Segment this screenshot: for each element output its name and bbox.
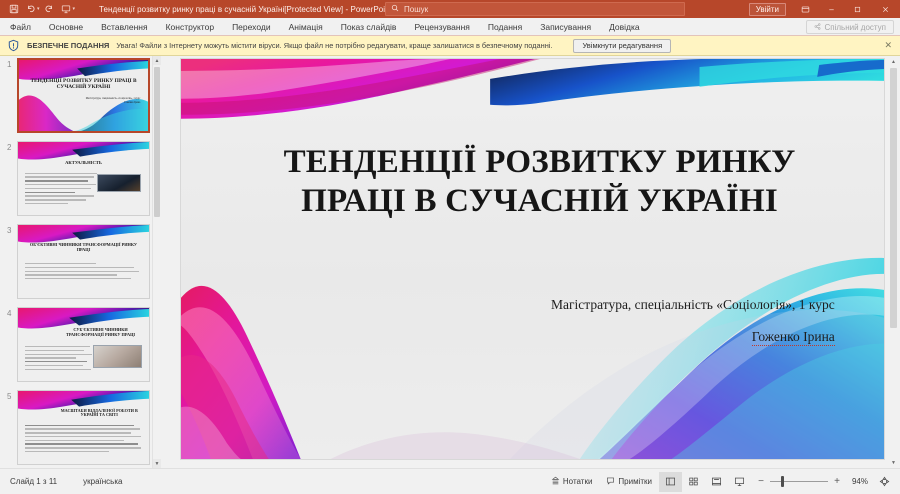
comments-button[interactable]: Примітки — [599, 472, 659, 492]
ribbon-tab-bar: Файл Основне Вставлення Конструктор Пере… — [0, 18, 900, 36]
slide-counter[interactable]: Слайд 1 з 11 — [10, 477, 57, 486]
thumbnail-title: СУБ'ЄКТИВНІ ЧИННИКИ ТРАНСФОРМАЦІЇ РИНКУ … — [60, 328, 141, 338]
language-indicator[interactable]: українська — [83, 477, 122, 486]
customize-quick-access-icon[interactable]: ▾ — [73, 6, 76, 12]
tab-slideshow[interactable]: Показ слайдів — [332, 18, 406, 36]
reading-view-icon[interactable] — [705, 472, 728, 492]
share-button[interactable]: Спільний доступ — [806, 20, 894, 34]
protected-view-heading: БЕЗПЕЧНЕ ПОДАННЯ — [27, 41, 109, 50]
scrollbar-thumb[interactable] — [890, 68, 897, 328]
thumbnail-item-5[interactable]: 5 МАСШТАБИ ВІДДАЛЕНОЇ РОБОТИ В УКРАЇНІ Т… — [0, 388, 152, 468]
thumbnail-title: МАСШТАБИ ВІДДАЛЕНОЇ РОБОТИ В УКРАЇНІ ТА … — [57, 409, 141, 418]
thumbnail-number: 1 — [7, 60, 11, 69]
slide-decoration — [181, 59, 884, 459]
thumbnail-body — [25, 425, 143, 455]
comment-icon — [606, 476, 615, 487]
enable-editing-button[interactable]: Увімкнути редагування — [573, 39, 671, 53]
quick-access-toolbar: ▾ ▾ — [0, 2, 75, 17]
window-controls: Увійти — [749, 0, 900, 18]
zoom-level[interactable]: 94% — [846, 477, 868, 486]
scroll-up-icon[interactable]: ▲ — [889, 57, 898, 66]
notes-button[interactable]: Нотатки — [544, 472, 600, 492]
minimize-button[interactable] — [818, 0, 844, 18]
thumbnail-image — [97, 174, 142, 192]
status-bar: Слайд 1 з 11 українська Нотатки Примітк — [0, 468, 900, 494]
thumbnail-number: 3 — [7, 226, 11, 235]
thumbnail-title: АКТУАЛЬНІСТЬ — [26, 160, 141, 165]
thumbnail-title: ТЕНДЕНЦІЇ РОЗВИТКУ РИНКУ ПРАЦІ В СУЧАСНІ… — [27, 78, 141, 90]
thumbnail-2[interactable]: АКТУАЛЬНІСТЬ — [17, 141, 150, 216]
thumbnail-image — [93, 345, 143, 368]
thumbnail-number: 4 — [7, 309, 11, 318]
zoom-slider-handle[interactable] — [781, 476, 784, 487]
thumbnail-item-2[interactable]: 2 АКТУАЛЬНІСТЬ — [0, 139, 152, 221]
tab-help[interactable]: Довідка — [600, 18, 649, 36]
thumbnail-3[interactable]: ОБ'ЄКТИВНІ ЧИННИКИ ТРАНСФОРМАЦІЇ РИНКУ П… — [17, 224, 150, 299]
thumbnail-1[interactable]: ТЕНДЕНЦІЇ РОЗВИТКУ РИНКУ ПРАЦІ В СУЧАСНІ… — [17, 58, 150, 133]
slide-sorter-view-icon[interactable] — [682, 472, 705, 492]
close-button[interactable] — [870, 0, 900, 18]
start-presentation-icon[interactable] — [59, 2, 74, 17]
slide-thumbnail-pane[interactable]: 1 — [0, 56, 160, 468]
undo-dropdown-icon[interactable]: ▾ — [37, 6, 40, 12]
thumbnail-body — [25, 173, 97, 207]
search-placeholder: Пошук — [404, 5, 428, 14]
zoom-in-button[interactable]: + — [833, 476, 841, 487]
thumbnail-5[interactable]: МАСШТАБИ ВІДДАЛЕНОЇ РОБОТИ В УКРАЇНІ ТА … — [17, 390, 150, 465]
thumbnail-body — [25, 263, 140, 282]
comments-label: Примітки — [618, 477, 652, 486]
slide-scrollbar[interactable]: ▲ ▼ — [889, 56, 898, 468]
undo-icon[interactable] — [23, 2, 38, 17]
notes-icon — [551, 476, 560, 487]
scroll-down-icon[interactable]: ▼ — [153, 459, 161, 468]
thumbnail-item-1[interactable]: 1 — [0, 56, 152, 138]
tab-review[interactable]: Рецензування — [405, 18, 478, 36]
ribbon-display-options-icon[interactable] — [792, 0, 818, 18]
tab-animations[interactable]: Анімація — [280, 18, 332, 36]
window-title: Тенденції розвитку ринку праці в сучасні… — [99, 5, 392, 14]
zoom-control[interactable]: − + 94% — [751, 476, 874, 487]
slideshow-view-icon[interactable] — [728, 472, 751, 492]
tab-recording[interactable]: Записування — [531, 18, 600, 36]
current-slide[interactable]: ТЕНДЕНЦІЇ РОЗВИТКУ РИНКУ ПРАЦІ В СУЧАСНІ… — [180, 58, 885, 460]
thumbnail-number: 5 — [7, 392, 11, 401]
notes-label: Нотатки — [563, 477, 593, 486]
scrollbar-thumb[interactable] — [154, 67, 160, 217]
thumbnail-subtitle-1: Магістратура, спеціальність «Соціологія»… — [86, 97, 141, 100]
thumbnail-item-4[interactable]: 4 СУБ'ЄКТИВНІ ЧИННИКИ ТРАНСФОРМАЦІЇ РИНК… — [0, 305, 152, 387]
fit-to-window-icon[interactable] — [874, 472, 894, 492]
slide-title[interactable]: ТЕНДЕНЦІЇ РОЗВИТКУ РИНКУ ПРАЦІ В СУЧАСНІ… — [237, 143, 842, 221]
slide-author: Гоженко Ірина — [752, 329, 835, 346]
tab-design[interactable]: Конструктор — [157, 18, 223, 36]
thumbnail-item-3[interactable]: 3 ОБ'ЄКТИВНІ ЧИННИКИ ТРАНСФОРМАЦІЇ РИНКУ… — [0, 222, 152, 304]
save-icon[interactable] — [6, 2, 21, 17]
tab-home[interactable]: Основне — [40, 18, 92, 36]
close-icon[interactable]: ✕ — [884, 40, 892, 51]
workspace: 1 — [0, 56, 900, 468]
share-label: Спільний доступ — [824, 23, 886, 32]
zoom-out-button[interactable]: − — [757, 476, 765, 487]
protected-view-bar: БЕЗПЕЧНЕ ПОДАННЯ Увага! Файли з Інтернет… — [0, 36, 900, 56]
slide-stage: ТЕНДЕНЦІЇ РОЗВИТКУ РИНКУ ПРАЦІ В СУЧАСНІ… — [161, 56, 900, 468]
zoom-slider[interactable] — [770, 481, 828, 482]
tab-file[interactable]: Файл — [0, 18, 40, 36]
scroll-down-icon[interactable]: ▼ — [889, 458, 898, 467]
slide-subtitle-line1[interactable]: Магістратура, спеціальність «Соціологія»… — [551, 297, 835, 313]
sign-in-button[interactable]: Увійти — [749, 3, 786, 16]
scroll-up-icon[interactable]: ▲ — [153, 56, 161, 65]
thumbnail-body — [25, 346, 93, 372]
shield-icon — [7, 39, 20, 52]
thumbnail-scrollbar[interactable]: ▲ ▼ — [152, 56, 160, 468]
thumbnail-title: ОБ'ЄКТИВНІ ЧИННИКИ ТРАНСФОРМАЦІЇ РИНКУ П… — [26, 243, 141, 253]
thumbnail-number: 2 — [7, 143, 11, 152]
restore-button[interactable] — [844, 0, 870, 18]
thumbnail-4[interactable]: СУБ'ЄКТИВНІ ЧИННИКИ ТРАНСФОРМАЦІЇ РИНКУ … — [17, 307, 150, 382]
tab-transitions[interactable]: Переходи — [223, 18, 280, 36]
redo-icon[interactable] — [42, 2, 57, 17]
tab-view[interactable]: Подання — [479, 18, 531, 36]
protected-view-message: Увага! Файли з Інтернету можуть містити … — [116, 41, 552, 50]
title-bar: ▾ ▾ Тенденції розвитку ринку праці в суч… — [0, 0, 900, 18]
share-icon — [814, 23, 821, 32]
normal-view-icon[interactable] — [659, 472, 682, 492]
search-input[interactable]: Пошук — [385, 2, 685, 16]
search-icon — [391, 4, 399, 14]
thumbnail-subtitle-2: Гоженко Ірина — [124, 101, 140, 104]
powerpoint-window: ▾ ▾ Тенденції розвитку ринку праці в суч… — [0, 0, 900, 494]
tab-insert[interactable]: Вставлення — [92, 18, 156, 36]
slide-subtitle-line2[interactable]: Гоженко Ірина — [752, 329, 835, 345]
